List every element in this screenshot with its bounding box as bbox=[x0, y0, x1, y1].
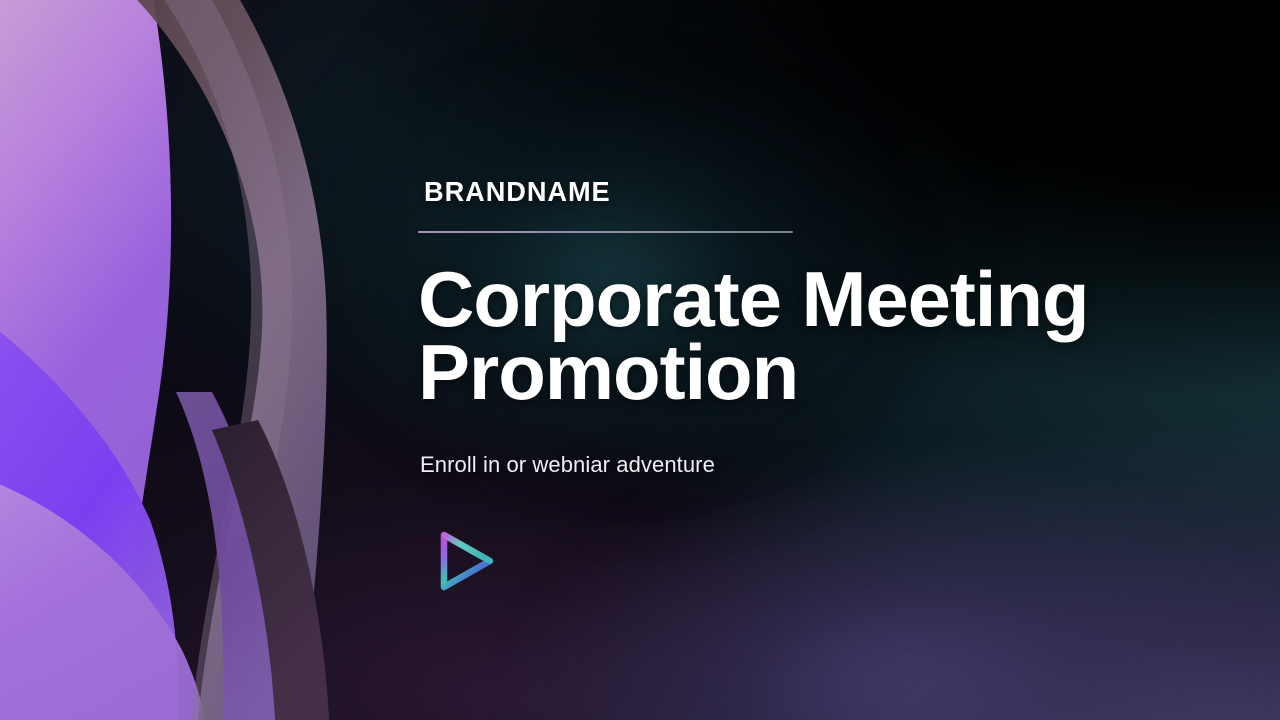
content-block: BRANDNAME Corporate Meeting Promotion En… bbox=[418, 178, 1198, 596]
page-title: Corporate Meeting Promotion bbox=[418, 263, 1188, 408]
headline-line-2: Promotion bbox=[418, 336, 1188, 409]
subtitle: Enroll in or webniar adventure bbox=[420, 452, 1198, 478]
title-slide: BRANDNAME Corporate Meeting Promotion En… bbox=[0, 0, 1280, 720]
play-triangle-icon[interactable] bbox=[436, 526, 498, 596]
divider-rule bbox=[418, 231, 793, 233]
decorative-ribbons bbox=[0, 0, 330, 720]
brand-label: BRANDNAME bbox=[424, 178, 1175, 206]
